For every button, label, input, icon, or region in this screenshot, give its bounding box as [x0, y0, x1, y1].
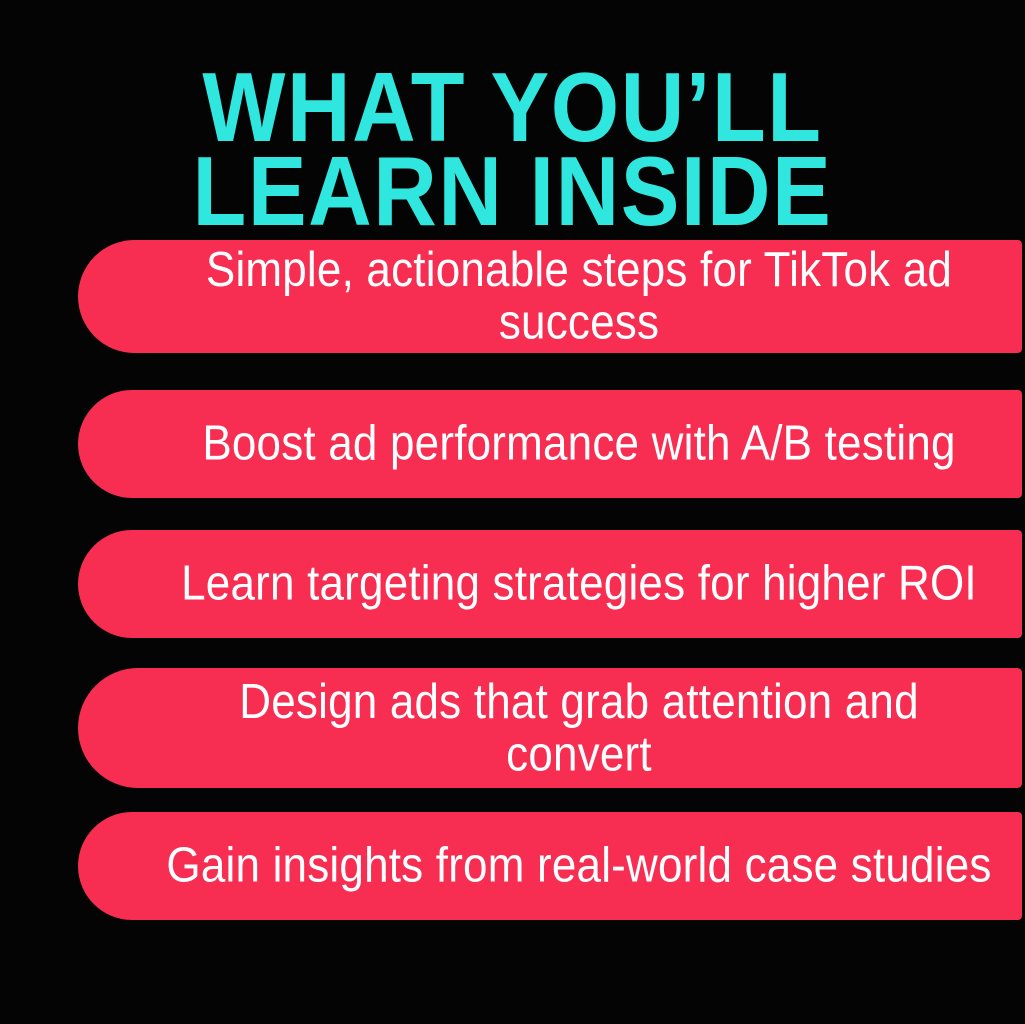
- list-item-label: Boost ad performance with A/B testing: [162, 418, 996, 471]
- list-item: Gain insights from real-world case studi…: [78, 812, 1022, 920]
- page-title-line-2: LEARN INSIDE: [0, 146, 1025, 239]
- list-item-label: Learn targeting strategies for higher RO…: [162, 558, 996, 611]
- list-item-label: Design ads that grab attention and conve…: [162, 675, 996, 780]
- list-item-label: Gain insights from real-world case studi…: [162, 840, 996, 893]
- page-title: WHAT YOU’LL LEARN INSIDE: [0, 62, 1025, 225]
- benefit-list: Simple, actionable steps for TikTok ad s…: [0, 240, 1025, 940]
- list-item: Boost ad performance with A/B testing: [78, 390, 1022, 498]
- poster-canvas: WHAT YOU’LL LEARN INSIDE Simple, actiona…: [0, 0, 1025, 1024]
- list-item-label: Simple, actionable steps for TikTok ad s…: [162, 244, 996, 349]
- list-item: Simple, actionable steps for TikTok ad s…: [78, 240, 1022, 353]
- list-item: Learn targeting strategies for higher RO…: [78, 530, 1022, 638]
- list-item: Design ads that grab attention and conve…: [78, 668, 1022, 788]
